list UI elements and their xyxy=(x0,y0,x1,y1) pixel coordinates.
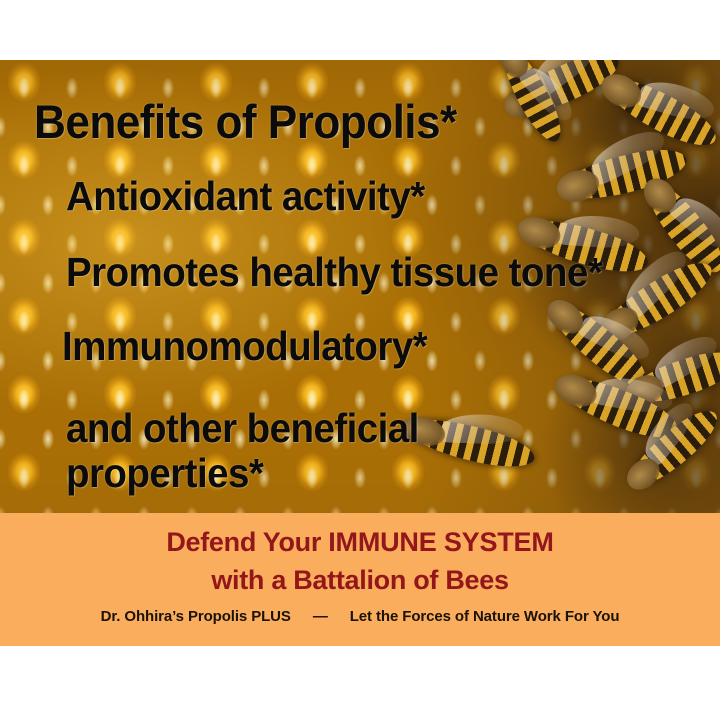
benefit-item-3: Immunomodulatory* xyxy=(62,323,427,370)
benefit-item-2: Promotes healthy tissue tone* xyxy=(66,249,602,296)
tagline-dash: — xyxy=(291,608,350,625)
tagline-slogan: Let the Forces of Nature Work For You xyxy=(350,608,620,625)
page-title: Benefits of Propolis* xyxy=(34,94,457,149)
footer-headline-primary: Defend Your IMMUNE SYSTEM xyxy=(0,527,720,558)
footer-headline-emphasis: IMMUNE SYSTEM xyxy=(328,527,553,557)
footer-band: Defend Your IMMUNE SYSTEM with a Battali… xyxy=(0,513,720,646)
brand-name: Propolis PLUS xyxy=(188,608,291,625)
benefit-item-1: Antioxidant activity* xyxy=(66,173,425,220)
benefit-item-4-continued: properties* xyxy=(66,450,263,497)
benefit-item-4: and other beneficial xyxy=(66,405,419,452)
propolis-ad-banner: Benefits of Propolis* Antioxidant activi… xyxy=(0,0,720,720)
benefits-copy: Benefits of Propolis* Antioxidant activi… xyxy=(0,60,720,513)
footer-tagline: Dr. Ohhira’s Propolis PLUS—Let the Force… xyxy=(0,608,720,625)
footer-headline-lead: Defend Your xyxy=(166,527,328,557)
brand-prefix: Dr. Ohhira’s xyxy=(101,608,188,625)
footer-headline-secondary: with a Battalion of Bees xyxy=(0,565,720,596)
